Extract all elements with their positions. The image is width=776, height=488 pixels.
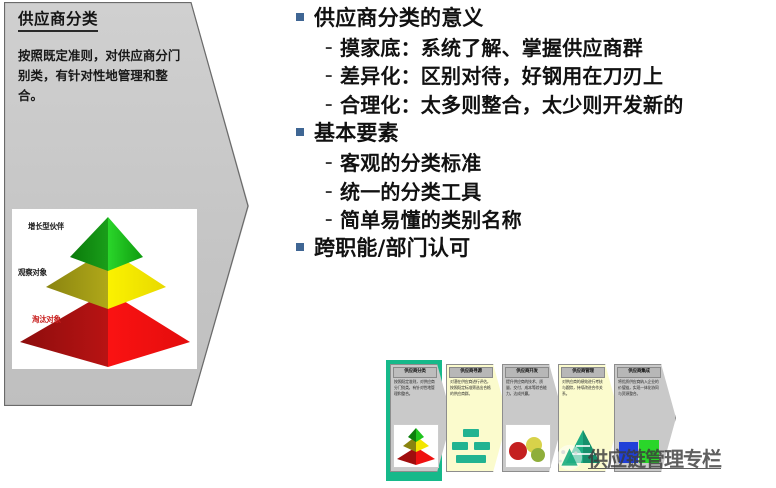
outline-text: 摸家底：系统了解、掌握供应商群 bbox=[340, 34, 643, 62]
pyramid-label-eliminate-target: 淘汰对象 bbox=[32, 314, 61, 326]
dash-bullet-icon: – bbox=[325, 68, 333, 83]
step-title: 供应商寻源 bbox=[449, 367, 493, 378]
mini-fruit-icon bbox=[506, 425, 550, 467]
outline-text: 供应商分类的意义 bbox=[314, 4, 484, 33]
dash-bullet-icon: – bbox=[325, 212, 333, 227]
outline-text: 差异化：区别对待，好钢用在刀刃上 bbox=[340, 62, 663, 90]
outline-text: 基本要素 bbox=[314, 119, 399, 148]
step-art-fruit bbox=[505, 424, 551, 468]
three-level-pyramid bbox=[12, 209, 197, 369]
outline-item-level2: – 合理化：太多则整合，太少则开发新的 bbox=[296, 91, 774, 119]
pyramid-image-card: 增长型伙伴 观察对象 淘汰对象 bbox=[12, 209, 197, 369]
pyramid-label-watch-target: 观察对象 bbox=[18, 267, 47, 279]
outline-text: 合理化：太多则整合，太少则开发新的 bbox=[340, 91, 683, 119]
outline-item-level2: – 统一的分类工具 bbox=[296, 178, 774, 206]
step-body-text: 将优质供应商纳入企业的价值链，实现一体化协同与资源整合。 bbox=[618, 379, 659, 397]
square-bullet-icon bbox=[296, 128, 304, 136]
supplier-classification-panel: 供应商分类 按照既定准则，对供应商分门别类，有针对性地管理和整合。 bbox=[4, 2, 249, 406]
content-outline: 供应商分类的意义 – 摸家底：系统了解、掌握供应商群 – 差异化：区别对待，好钢… bbox=[296, 4, 774, 264]
outline-item-level2: – 简单易懂的类别名称 bbox=[296, 206, 774, 234]
mini-nodes-icon bbox=[449, 426, 493, 468]
step-body-text: 提升供应商的技术、质量、交付、成本等综合能力，达成共赢。 bbox=[506, 379, 547, 397]
step-title: 供应商分类 bbox=[393, 367, 437, 378]
square-bullet-icon bbox=[296, 13, 304, 21]
flow-step-3[interactable]: 供应商开发 提升供应商的技术、质量、交付、成本等综合能力，达成共赢。 bbox=[502, 364, 564, 472]
step-body-text: 对潜在供应商进行评估，按照既定标准筛选出合格的供应商群。 bbox=[450, 379, 491, 397]
panel-title: 供应商分类 bbox=[18, 11, 98, 32]
watermark-text: 供应链管理专栏 bbox=[588, 443, 721, 472]
pyramid-label-growth-partner: 增长型伙伴 bbox=[28, 221, 64, 233]
step-body-text: 按照既定准则，对供应商分门别类，有针对性地管理和整合。 bbox=[394, 379, 435, 397]
outline-item-level2: – 差异化：区别对待，好钢用在刀刃上 bbox=[296, 62, 774, 90]
step-art-pyramid bbox=[393, 424, 439, 468]
flow-step-2[interactable]: 供应商寻源 对潜在供应商进行评估，按照既定标准筛选出合格的供应商群。 bbox=[446, 364, 508, 472]
outline-item-level2: – 摸家底：系统了解、掌握供应商群 bbox=[296, 34, 774, 62]
outline-item-level1: 供应商分类的意义 bbox=[296, 4, 774, 33]
outline-item-level2: – 客观的分类标准 bbox=[296, 149, 774, 177]
step-art-nodes bbox=[449, 426, 493, 468]
square-bullet-icon bbox=[296, 243, 304, 251]
step-title: 供应商管理 bbox=[561, 367, 605, 378]
outline-text: 跨职能/部门认可 bbox=[314, 234, 470, 263]
outline-text: 客观的分类标准 bbox=[340, 149, 481, 177]
flow-step-1[interactable]: 供应商分类 按照既定准则，对供应商分门别类，有针对性地管理和整合。 bbox=[390, 364, 452, 472]
mini-pyramid-icon bbox=[394, 425, 438, 467]
dash-bullet-icon: – bbox=[325, 97, 333, 112]
dash-bullet-icon: – bbox=[325, 40, 333, 55]
outline-text: 简单易懂的类别名称 bbox=[340, 206, 522, 234]
step-title: 供应商集成 bbox=[617, 367, 661, 378]
outline-text: 统一的分类工具 bbox=[340, 178, 481, 206]
watermark: 供应链管理专栏 bbox=[556, 440, 721, 474]
dash-bullet-icon: – bbox=[325, 184, 333, 199]
outline-item-level1: 基本要素 bbox=[296, 119, 774, 148]
panel-description: 按照既定准则，对供应商分门别类，有针对性地管理和整合。 bbox=[18, 46, 184, 106]
supply-chain-logo-icon bbox=[556, 444, 583, 471]
step-body-text: 对供应商的绩效进行考核与跟踪，持续改进合作关系。 bbox=[562, 379, 603, 397]
step-title: 供应商开发 bbox=[505, 367, 549, 378]
dash-bullet-icon: – bbox=[325, 155, 333, 170]
outline-item-level1: 跨职能/部门认可 bbox=[296, 234, 774, 263]
